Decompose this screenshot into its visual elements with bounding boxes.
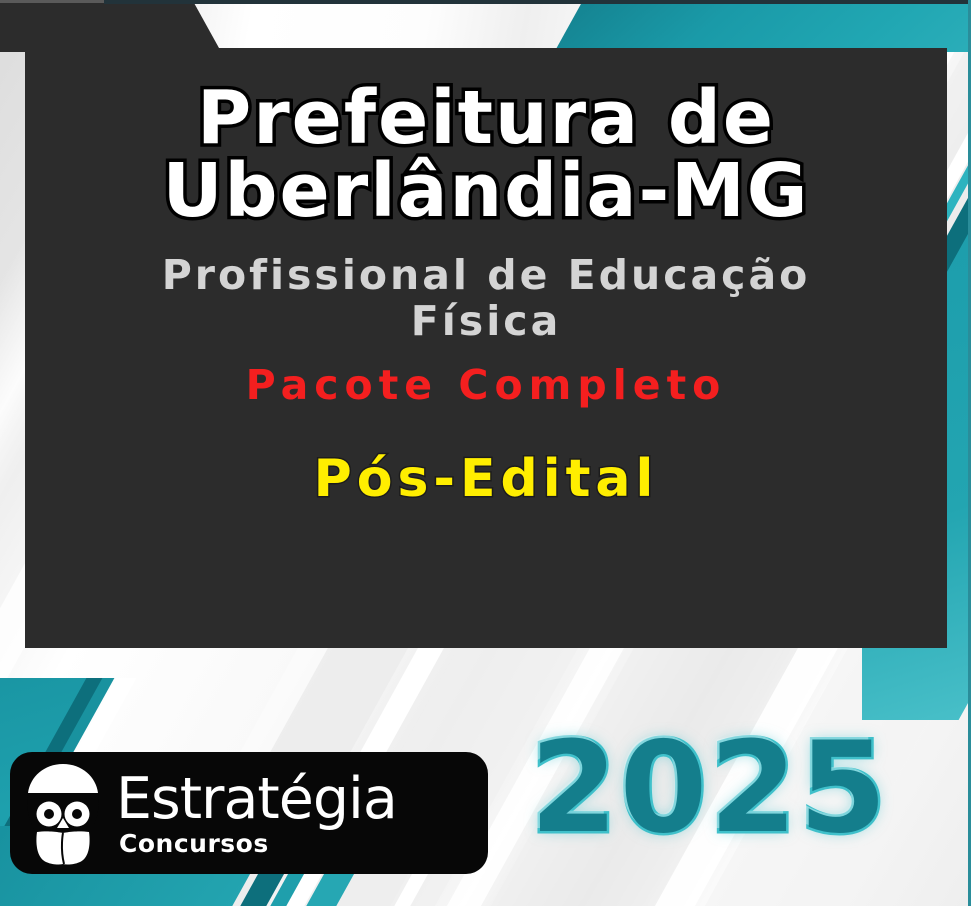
subtitle-line-2: Física [411,297,562,345]
title-line-2: Uberlândia-MG [162,148,809,234]
course-subtitle: Profissional de Educação Física [25,227,947,345]
brand-name: Estratégia [116,772,397,827]
subtitle-line-1: Profissional de Educação [162,251,811,299]
owl-icon [24,760,102,866]
page-title: Prefeitura de Uberlândia-MG [25,48,947,227]
brand-logo-text: Estratégia Concursos [116,772,397,858]
top-edge-line-dark [104,0,971,4]
content-panel: Prefeitura de Uberlândia-MG Profissional… [25,48,947,648]
promo-poster: Prefeitura de Uberlândia-MG Profissional… [0,0,971,906]
year-label: 2025 [530,725,930,851]
brand-tagline: Concursos [119,829,397,858]
package-label: Pacote Completo [25,345,947,409]
brand-logo: Estratégia Concursos [10,752,488,874]
phase-badge: Pós-Edital [25,409,947,509]
top-decorative-band [0,0,971,52]
